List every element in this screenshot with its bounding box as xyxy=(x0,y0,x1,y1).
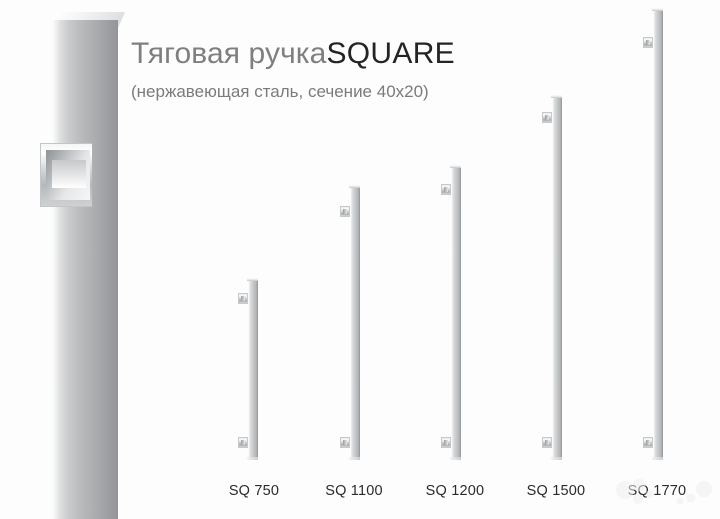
handle-bar xyxy=(349,185,360,460)
bracket-slot xyxy=(646,40,650,45)
product-handle-sq-1200 xyxy=(450,165,461,460)
handle-bracket-upper xyxy=(542,112,552,123)
handle-bracket-upper xyxy=(441,184,451,195)
bracket-slot xyxy=(444,187,448,192)
hero-handle-bracket-slot xyxy=(52,160,86,188)
product-handle-sq-1100 xyxy=(349,185,360,460)
product-label-sq-750: SQ 750 xyxy=(214,482,294,500)
handle-bracket-lower xyxy=(340,437,350,448)
handle-bracket-lower xyxy=(542,437,552,448)
bracket-slot xyxy=(241,296,245,301)
handle-bottom-cap xyxy=(349,457,360,460)
bracket-slot xyxy=(343,209,347,214)
handle-bar xyxy=(551,95,562,460)
bracket-slot xyxy=(646,440,650,445)
product-handle-sq-1770 xyxy=(652,8,663,460)
handle-bracket-lower xyxy=(238,437,248,448)
page-title: Тяговая ручкаSQUARE xyxy=(131,36,551,72)
handle-bottom-cap xyxy=(652,457,663,460)
handle-bar xyxy=(450,165,461,460)
product-label-sq-1500: SQ 1500 xyxy=(516,482,596,500)
handle-bottom-cap xyxy=(247,457,258,460)
handle-bar xyxy=(652,8,663,460)
subtitle-material-spec: (нержавеющая сталь, сечение 40x20) xyxy=(131,81,551,102)
handle-bracket-upper xyxy=(238,293,248,304)
bracket-slot xyxy=(545,115,549,120)
hero-handle-large xyxy=(40,0,118,519)
handle-bottom-cap xyxy=(450,457,461,460)
handle-top-cap xyxy=(450,165,461,168)
product-label-sq-1770: SQ 1770 xyxy=(617,482,697,500)
handle-bracket-upper xyxy=(340,206,350,217)
bracket-slot xyxy=(241,440,245,445)
handle-top-cap xyxy=(247,278,258,281)
title-russian: Тяговая ручка xyxy=(131,37,326,70)
product-handle-sq-1500 xyxy=(551,95,562,460)
handle-top-cap xyxy=(349,185,360,188)
hero-handle-highlight-edge xyxy=(48,20,59,519)
product-label-sq-1200: SQ 1200 xyxy=(415,482,495,500)
handle-bottom-cap xyxy=(551,457,562,460)
handle-bracket-lower xyxy=(441,437,451,448)
heading-block: Тяговая ручкаSQUARE (нержавеющая сталь, … xyxy=(131,36,551,102)
product-catalog-image: Тяговая ручкаSQUARE (нержавеющая сталь, … xyxy=(0,0,720,519)
handle-bar xyxy=(247,278,258,460)
handle-top-cap xyxy=(652,8,663,11)
handle-bracket-lower xyxy=(643,437,653,448)
handle-top-cap xyxy=(551,95,562,98)
bracket-slot xyxy=(444,440,448,445)
bracket-slot xyxy=(343,440,347,445)
bracket-slot xyxy=(545,440,549,445)
title-model-name: SQUARE xyxy=(326,37,455,70)
product-handle-sq-750 xyxy=(247,278,258,460)
product-label-sq-1100: SQ 1100 xyxy=(314,482,394,500)
handle-bracket-upper xyxy=(643,37,653,48)
